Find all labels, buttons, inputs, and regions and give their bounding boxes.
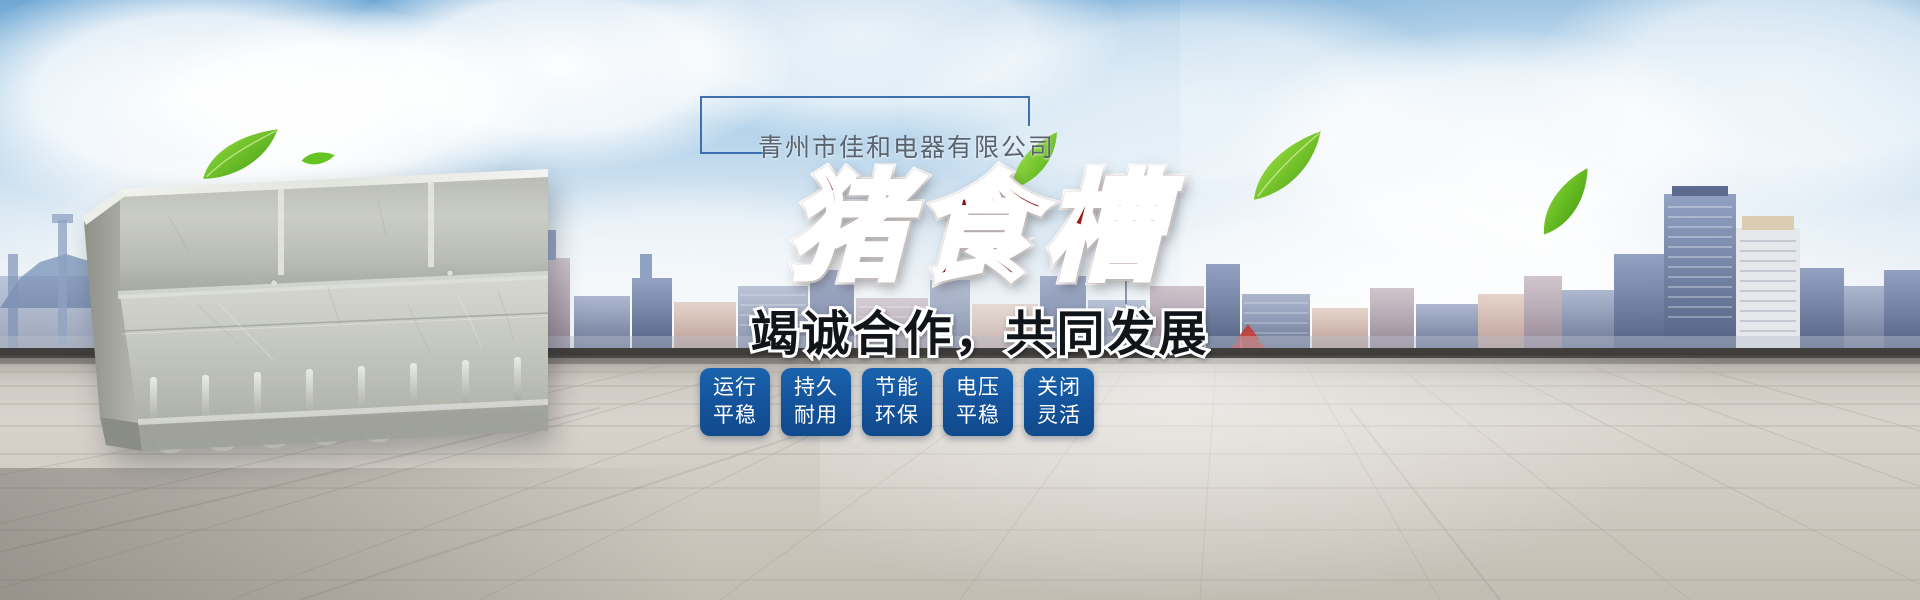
frame-right-line [1028, 96, 1030, 126]
frame-top-line [700, 96, 1030, 98]
product-image-feeder-trough [78, 155, 578, 465]
subtitle-slogan: 竭诚合作，共同发展 [700, 294, 1260, 364]
cloud-icon [1530, 0, 1920, 210]
badge-line-1: 运行 [713, 374, 757, 402]
cloud-icon [1230, 30, 1750, 260]
badge-line-2: 耐用 [794, 402, 838, 430]
badge-line-2: 灵活 [1037, 402, 1081, 430]
feature-badge[interactable]: 关闭 灵活 [1024, 368, 1094, 436]
badge-line-1: 关闭 [1037, 374, 1081, 402]
badge-line-1: 电压 [956, 374, 1000, 402]
feature-badge-list: 运行 平稳 持久 耐用 节能 环保 电压 平稳 关闭 灵活 [700, 368, 1180, 436]
badge-line-1: 持久 [794, 374, 838, 402]
feature-badge[interactable]: 运行 平稳 [700, 368, 770, 436]
badge-line-2: 平稳 [713, 402, 757, 430]
promo-banner: 青州市佳和电器有限公司 猪食槽 猪食槽 竭诚合作，共同发展 运行 平稳 持久 耐… [0, 0, 1920, 600]
frame-left-line [700, 96, 702, 154]
badge-line-1: 节能 [875, 374, 919, 402]
leaf-icon [1524, 164, 1611, 242]
badge-line-2: 平稳 [956, 402, 1000, 430]
badge-line-2: 环保 [875, 402, 919, 430]
feature-badge[interactable]: 节能 环保 [862, 368, 932, 436]
page-title: 猪食槽 [720, 164, 1240, 291]
feature-badge[interactable]: 电压 平稳 [943, 368, 1013, 436]
feature-badge[interactable]: 持久 耐用 [781, 368, 851, 436]
